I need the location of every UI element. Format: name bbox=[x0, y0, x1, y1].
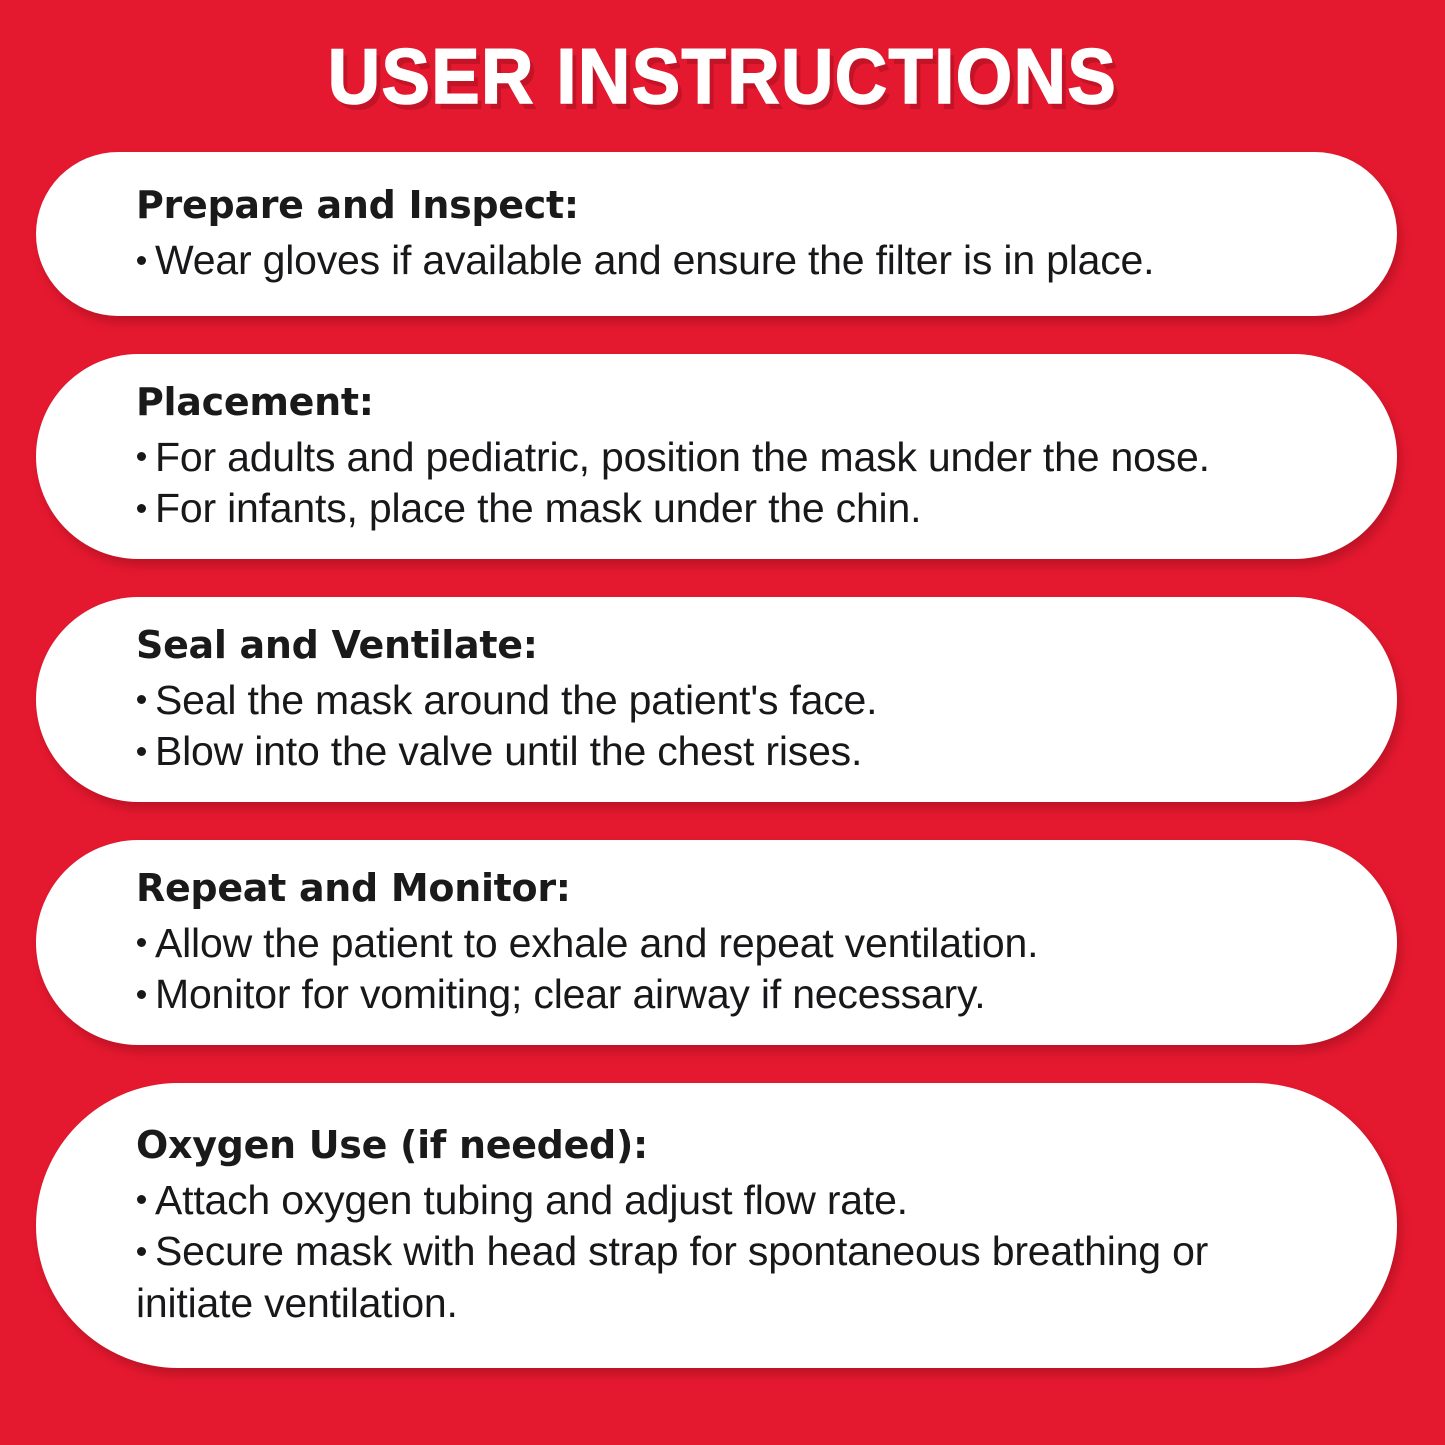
bullet-point-icon bbox=[137, 256, 146, 265]
instruction-bullet: For infants, place the mask under the ch… bbox=[136, 483, 1301, 535]
instruction-bullet: For adults and pediatric, position the m… bbox=[136, 432, 1301, 484]
bullet-point-icon bbox=[137, 990, 146, 999]
bullet-point-icon bbox=[137, 504, 146, 513]
instruction-bullet-text: Blow into the valve until the chest rise… bbox=[155, 728, 862, 774]
bullet-point-icon bbox=[137, 1195, 146, 1204]
bullet-point-icon bbox=[137, 1247, 146, 1256]
instruction-step-heading: Prepare and Inspect: bbox=[136, 181, 1301, 230]
instruction-bullet: Attach oxygen tubing and adjust flow rat… bbox=[136, 1175, 1327, 1227]
instruction-bullet-text: For infants, place the mask under the ch… bbox=[155, 485, 921, 531]
instruction-bullet: Secure mask with head strap for spontane… bbox=[136, 1226, 1327, 1329]
poster-header: USER INSTRUCTIONS bbox=[0, 0, 1445, 152]
bullet-point-icon bbox=[137, 452, 146, 461]
instruction-step-card: Placement: For adults and pediatric, pos… bbox=[36, 354, 1397, 559]
instruction-step-heading: Repeat and Monitor: bbox=[136, 864, 1301, 913]
instruction-step-heading: Oxygen Use (if needed): bbox=[136, 1121, 1327, 1170]
instruction-bullet-text: Wear gloves if available and ensure the … bbox=[155, 237, 1154, 283]
instruction-bullet: Allow the patient to exhale and repeat v… bbox=[136, 918, 1301, 970]
instruction-step-heading: Seal and Ventilate: bbox=[136, 621, 1301, 670]
bullet-point-icon bbox=[137, 695, 146, 704]
instructions-poster: USER INSTRUCTIONS Prepare and Inspect: W… bbox=[0, 0, 1445, 1445]
bullet-point-icon bbox=[137, 747, 146, 756]
instruction-step-card: Prepare and Inspect: Wear gloves if avai… bbox=[36, 152, 1397, 316]
instruction-step-card: Seal and Ventilate: Seal the mask around… bbox=[36, 597, 1397, 802]
instruction-bullet-text: Attach oxygen tubing and adjust flow rat… bbox=[155, 1177, 908, 1223]
instruction-bullet-text: Monitor for vomiting; clear airway if ne… bbox=[155, 971, 985, 1017]
instruction-step-content: Prepare and Inspect: Wear gloves if avai… bbox=[36, 181, 1397, 286]
instruction-step-content: Placement: For adults and pediatric, pos… bbox=[36, 378, 1397, 535]
instruction-step-content: Seal and Ventilate: Seal the mask around… bbox=[36, 621, 1397, 778]
instruction-bullet: Monitor for vomiting; clear airway if ne… bbox=[136, 969, 1301, 1021]
instruction-bullet-text: Secure mask with head strap for spontane… bbox=[136, 1228, 1208, 1326]
instruction-step-content: Repeat and Monitor: Allow the patient to… bbox=[36, 864, 1397, 1021]
instruction-bullet-text: For adults and pediatric, position the m… bbox=[155, 434, 1210, 480]
instruction-bullet: Wear gloves if available and ensure the … bbox=[136, 235, 1301, 287]
instruction-step-card: Repeat and Monitor: Allow the patient to… bbox=[36, 840, 1397, 1045]
instruction-bullet: Seal the mask around the patient's face. bbox=[136, 675, 1301, 727]
instruction-bullet: Blow into the valve until the chest rise… bbox=[136, 726, 1301, 778]
instruction-step-card: Oxygen Use (if needed): Attach oxygen tu… bbox=[36, 1083, 1397, 1368]
instruction-bullet-text: Seal the mask around the patient's face. bbox=[155, 677, 877, 723]
instruction-bullet-text: Allow the patient to exhale and repeat v… bbox=[155, 920, 1038, 966]
instruction-steps-list: Prepare and Inspect: Wear gloves if avai… bbox=[0, 152, 1445, 1445]
instruction-step-heading: Placement: bbox=[136, 378, 1301, 427]
bullet-point-icon bbox=[137, 938, 146, 947]
instruction-step-content: Oxygen Use (if needed): Attach oxygen tu… bbox=[36, 1121, 1397, 1329]
page-title: USER INSTRUCTIONS bbox=[328, 37, 1117, 115]
